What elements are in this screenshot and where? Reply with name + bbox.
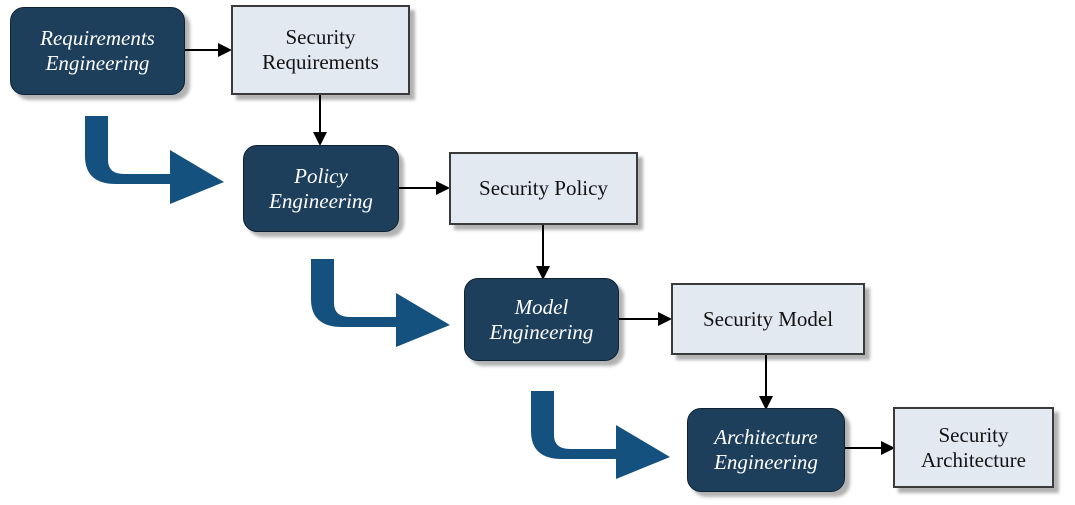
node-requirements-engineering[interactable]: RequirementsEngineering [10, 7, 185, 95]
phase-arrow-2 [304, 255, 454, 347]
arrow-req-eng-to-sec-req [182, 40, 234, 60]
node-architecture-engineering[interactable]: ArchitectureEngineering [687, 408, 845, 492]
arrow-sec-req-to-pol-eng [310, 94, 330, 148]
node-label-security-architecture: SecurityArchitecture [895, 423, 1052, 473]
node-security-requirements[interactable]: SecurityRequirements [231, 5, 410, 95]
node-model-engineering[interactable]: ModelEngineering [464, 278, 619, 361]
node-label-policy-engineering: PolicyEngineering [244, 164, 398, 214]
diagram-canvas: RequirementsEngineering SecurityRequirem… [0, 0, 1075, 505]
node-security-architecture[interactable]: SecurityArchitecture [893, 407, 1054, 488]
node-label-requirements-engineering: RequirementsEngineering [11, 26, 184, 76]
arrow-sec-pol-to-mod-eng [533, 224, 553, 282]
arrow-mod-eng-to-sec-mod [618, 309, 674, 329]
arrow-pol-eng-to-sec-pol [398, 178, 452, 198]
node-security-policy[interactable]: Security Policy [449, 152, 638, 225]
node-label-security-requirements: SecurityRequirements [233, 25, 408, 75]
node-label-security-model: Security Model [673, 307, 863, 332]
arrow-arch-eng-to-sec-arch [843, 438, 897, 458]
phase-arrow-3 [524, 387, 674, 479]
phase-arrow-1 [78, 112, 228, 204]
node-label-model-engineering: ModelEngineering [465, 295, 618, 345]
node-security-model[interactable]: Security Model [671, 283, 865, 355]
node-label-architecture-engineering: ArchitectureEngineering [688, 425, 844, 475]
node-label-security-policy: Security Policy [451, 176, 636, 201]
arrow-sec-mod-to-arch-eng [756, 354, 776, 412]
node-policy-engineering[interactable]: PolicyEngineering [243, 145, 399, 232]
